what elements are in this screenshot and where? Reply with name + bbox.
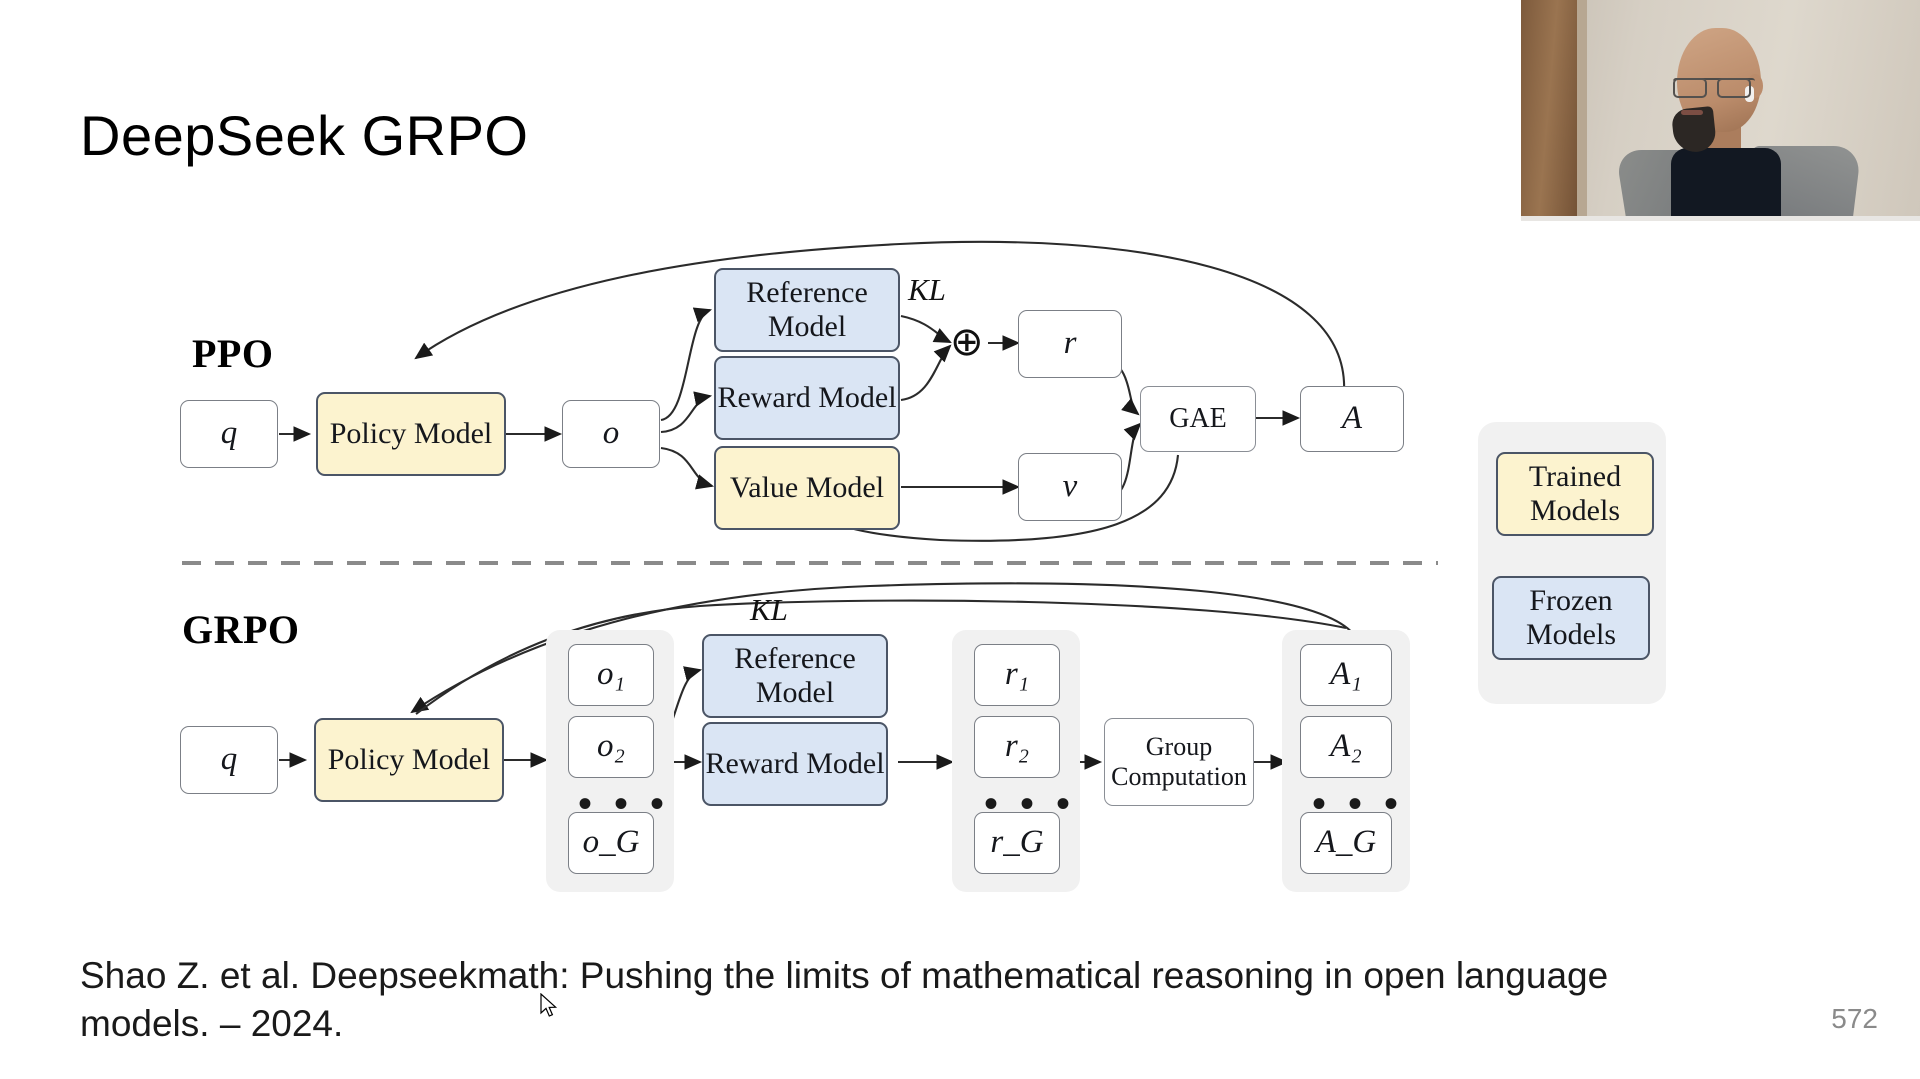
ppo-node-gae: GAE	[1140, 386, 1256, 452]
webcam-door-frame	[1577, 0, 1587, 221]
webcam-glasses-lens-left	[1673, 78, 1707, 98]
webcam-door	[1521, 0, 1583, 221]
mouse-cursor	[540, 993, 558, 1019]
grpo-node-reward-model: Reward Model	[702, 722, 888, 806]
grpo-node-group-computation: Group Computation	[1104, 718, 1254, 806]
grpo-node-r1: r₁	[974, 644, 1060, 706]
page-title: DeepSeek GRPO	[80, 105, 528, 167]
grpo-node-r2: r₂	[974, 716, 1060, 778]
webcam-bottom-strip	[1521, 216, 1920, 221]
grpo-kl-label: KL	[750, 592, 788, 628]
ppo-node-a: A	[1300, 386, 1404, 452]
ppo-node-policy-model: Policy Model	[316, 392, 506, 476]
ppo-plus-icon: ⊕	[950, 322, 984, 362]
legend-frozen-models: Frozen Models	[1492, 576, 1650, 660]
webcam-overlay	[1521, 0, 1920, 221]
grpo-node-reference-model: Reference Model	[702, 634, 888, 718]
ppo-node-r: r	[1018, 310, 1122, 378]
webcam-shirt	[1671, 148, 1781, 221]
ppo-section-label: PPO	[192, 330, 273, 377]
webcam-mouth	[1681, 110, 1703, 115]
ppo-node-reward-model: Reward Model	[714, 356, 900, 440]
grpo-node-q: q	[180, 726, 278, 794]
grpo-node-A2: A₂	[1300, 716, 1392, 778]
grpo-section-label: GRPO	[182, 606, 300, 653]
webcam-glasses-lens-right	[1717, 78, 1751, 98]
ppo-node-v: v	[1018, 453, 1122, 521]
legend-trained-models: Trained Models	[1496, 452, 1654, 536]
grpo-node-oG: o_G	[568, 812, 654, 874]
ppo-node-value-model: Value Model	[714, 446, 900, 530]
grpo-node-A1: A₁	[1300, 644, 1392, 706]
grpo-node-rG: r_G	[974, 812, 1060, 874]
page-number: 572	[1831, 1003, 1878, 1035]
citation-text: Shao Z. et al. Deepseekmath: Pushing the…	[80, 952, 1700, 1048]
ppo-node-o: o	[562, 400, 660, 468]
ppo-kl-label: KL	[908, 272, 946, 308]
grpo-node-o2: o₂	[568, 716, 654, 778]
ppo-node-reference-model: Reference Model	[714, 268, 900, 352]
grpo-node-AG: A_G	[1300, 812, 1392, 874]
ppo-node-q: q	[180, 400, 278, 468]
grpo-node-policy-model: Policy Model	[314, 718, 504, 802]
grpo-node-o1: o₁	[568, 644, 654, 706]
